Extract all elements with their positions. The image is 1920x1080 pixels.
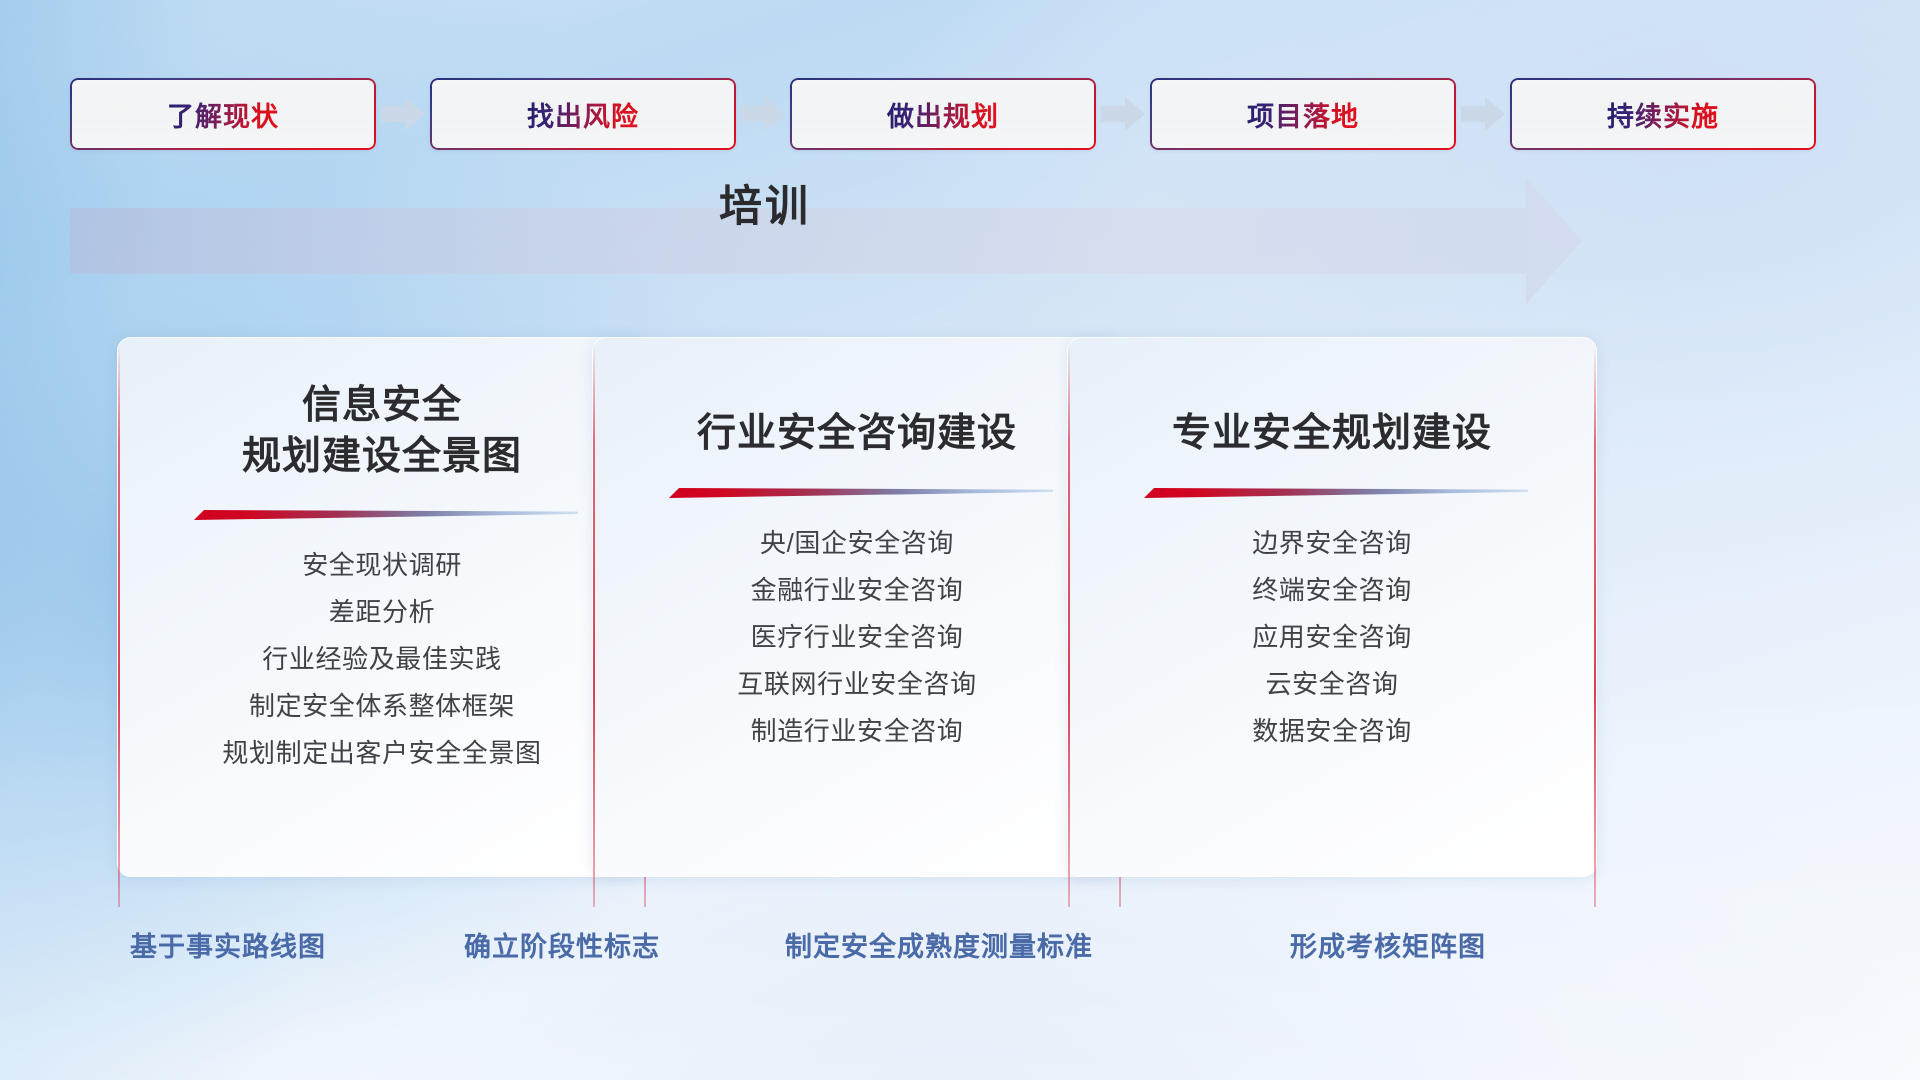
bottom-label-4: 形成考核矩阵图 bbox=[1290, 925, 1486, 964]
list-item: 应用安全咨询 bbox=[1097, 614, 1567, 661]
process-step-bar: 了解现状 找出风险 做出规划 项目落地 bbox=[70, 78, 1856, 150]
arrow-right-icon bbox=[736, 97, 790, 131]
arrow-right-icon bbox=[1096, 97, 1150, 131]
list-item: 差距分析 bbox=[147, 589, 617, 636]
slide-canvas: 了解现状 找出风险 做出规划 项目落地 bbox=[0, 0, 1920, 1080]
list-item: 制造行业安全咨询 bbox=[622, 708, 1092, 755]
bottom-label-1: 基于事实路线图 bbox=[130, 925, 326, 964]
list-item: 金融行业安全咨询 bbox=[622, 567, 1092, 614]
list-item: 云安全咨询 bbox=[1097, 661, 1567, 708]
step-box-1[interactable]: 了解现状 bbox=[70, 78, 376, 150]
step-box-5[interactable]: 持续实施 bbox=[1510, 78, 1816, 150]
list-item: 规划制定出客户安全全景图 bbox=[147, 730, 617, 777]
step-label-3: 做出规划 bbox=[887, 95, 999, 134]
bottom-label-2: 确立阶段性标志 bbox=[464, 925, 660, 964]
banner-arrow-head-icon bbox=[1526, 178, 1582, 304]
card-list: 边界安全咨询 终端安全咨询 应用安全咨询 云安全咨询 数据安全咨询 bbox=[1097, 520, 1567, 755]
card-list: 央/国企安全咨询 金融行业安全咨询 医疗行业安全咨询 互联网行业安全咨询 制造行… bbox=[622, 520, 1092, 755]
list-item: 数据安全咨询 bbox=[1097, 708, 1567, 755]
list-item: 互联网行业安全咨询 bbox=[622, 661, 1092, 708]
list-item: 行业经验及最佳实践 bbox=[147, 636, 617, 683]
card-information-security[interactable]: 信息安全 规划建设全景图 bbox=[117, 337, 647, 877]
card-list: 安全现状调研 差距分析 行业经验及最佳实践 制定安全体系整体框架 规划制定出客户… bbox=[147, 542, 617, 777]
card-industry-security-consulting[interactable]: 行业安全咨询建设 bbox=[592, 337, 1122, 877]
step-label-5: 持续实施 bbox=[1607, 95, 1719, 134]
card-title: 行业安全咨询建设 bbox=[697, 381, 1017, 460]
step-box-4[interactable]: 项目落地 bbox=[1150, 78, 1456, 150]
card-title: 专业安全规划建设 bbox=[1172, 381, 1492, 460]
step-label-2: 找出风险 bbox=[527, 95, 639, 134]
training-banner-title: 培训 bbox=[0, 172, 1530, 234]
step-label-4: 项目落地 bbox=[1247, 95, 1359, 134]
arrow-right-icon bbox=[376, 97, 430, 131]
list-item: 边界安全咨询 bbox=[1097, 520, 1567, 567]
bottom-label-row: 基于事实路线图 确立阶段性标志 制定安全成熟度测量标准 形成考核矩阵图 bbox=[0, 925, 1920, 969]
card-title: 信息安全 规划建设全景图 bbox=[242, 381, 522, 482]
card-divider bbox=[1136, 486, 1528, 500]
list-item: 医疗行业安全咨询 bbox=[622, 614, 1092, 661]
list-item: 安全现状调研 bbox=[147, 542, 617, 589]
bottom-label-3: 制定安全成熟度测量标准 bbox=[785, 925, 1093, 964]
card-professional-security-planning[interactable]: 专业安全规划建设 bbox=[1067, 337, 1597, 877]
arrow-right-icon bbox=[1456, 97, 1510, 131]
list-item: 央/国企安全咨询 bbox=[622, 520, 1092, 567]
list-item: 终端安全咨询 bbox=[1097, 567, 1567, 614]
step-label-1: 了解现状 bbox=[167, 95, 279, 134]
card-divider bbox=[186, 508, 578, 522]
step-box-2[interactable]: 找出风险 bbox=[430, 78, 736, 150]
card-divider bbox=[661, 486, 1053, 500]
step-box-3[interactable]: 做出规划 bbox=[790, 78, 1096, 150]
list-item: 制定安全体系整体框架 bbox=[147, 683, 617, 730]
card-row: 信息安全 规划建设全景图 bbox=[0, 337, 1920, 877]
